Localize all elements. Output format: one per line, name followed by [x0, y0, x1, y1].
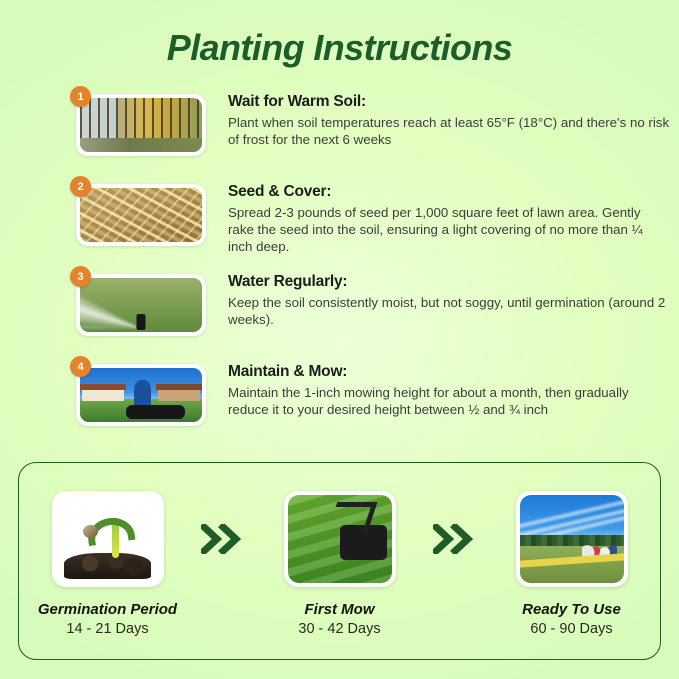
step-4-number-badge: 4: [70, 356, 91, 377]
step-4-thumbnail-wrap: 4: [70, 356, 212, 426]
straw-mulch-photo: [80, 188, 202, 242]
step-4-body: Maintain the 1-inch mowing height for ab…: [228, 384, 670, 418]
timeline-stage-1-label: Germination Period: [23, 601, 193, 618]
lawn-mower-on-grass-photo: [288, 495, 392, 583]
step-1-thumbnail-card: [76, 94, 206, 156]
timeline-stage-3-days: 60 - 90 Days: [487, 621, 657, 637]
steps-list: 1 Wait for Warm Soil: Plant when soil te…: [70, 86, 670, 446]
timeline-stage-1-card: [52, 491, 164, 587]
step-1-text: Wait for Warm Soil: Plant when soil temp…: [212, 86, 670, 148]
step-2-text: Seed & Cover: Spread 2-3 pounds of seed …: [212, 176, 670, 255]
timeline-stage-3-label: Ready To Use: [487, 601, 657, 618]
step-3-text: Water Regularly: Keep the soil consisten…: [212, 266, 670, 328]
timeline-stage-3: Ready To Use 60 - 90 Days: [487, 491, 657, 637]
step-1-body: Plant when soil temperatures reach at le…: [228, 114, 670, 148]
step-4-heading: Maintain & Mow:: [228, 363, 670, 381]
timeline-stage-2-label: First Mow: [255, 601, 425, 618]
step-2-thumbnail-card: [76, 184, 206, 246]
step-item-3: 3 Water Regularly: Keep the soil consist…: [70, 266, 670, 356]
double-chevron-right-icon-2: [425, 491, 487, 587]
step-3-body: Keep the soil consistently moist, but no…: [228, 294, 670, 328]
step-3-thumbnail-wrap: 3: [70, 266, 212, 336]
step-4-text: Maintain & Mow: Maintain the 1-inch mowi…: [212, 356, 670, 418]
step-3-number-badge: 3: [70, 266, 91, 287]
step-1-thumbnail-wrap: 1: [70, 86, 212, 156]
step-3-heading: Water Regularly:: [228, 273, 670, 291]
lawn-sprinkler-photo: [80, 278, 202, 332]
timeline-row: Germination Period 14 - 21 Days: [19, 485, 660, 637]
sports-field-photo: [520, 495, 624, 583]
step-2-thumbnail-wrap: 2: [70, 176, 212, 246]
step-4-thumbnail-card: [76, 364, 206, 426]
step-2-number-badge: 2: [70, 176, 91, 197]
step-2-heading: Seed & Cover:: [228, 183, 670, 201]
step-item-1: 1 Wait for Warm Soil: Plant when soil te…: [70, 86, 670, 176]
page-title: Planting Instructions: [0, 27, 679, 69]
timeline-stage-2-card: [284, 491, 396, 587]
step-1-number-badge: 1: [70, 86, 91, 107]
timeline-stage-1: Germination Period 14 - 21 Days: [23, 491, 193, 637]
step-item-4: 4 Maintain & Mow: Maintain th: [70, 356, 670, 446]
seedling-sprout-photo: [56, 495, 160, 583]
step-3-thumbnail-card: [76, 274, 206, 336]
infographic-page: Planting Instructions 1 Wait for Warm So…: [0, 0, 679, 679]
timeline-stage-2: First Mow 30 - 42 Days: [255, 491, 425, 637]
timeline-stage-3-card: [516, 491, 628, 587]
double-chevron-right-icon: [193, 491, 255, 587]
step-item-2: 2 Seed & Cover: Spread 2-3 pounds of see…: [70, 176, 670, 266]
timeline-stage-1-days: 14 - 21 Days: [23, 621, 193, 637]
timeline-stage-2-days: 30 - 42 Days: [255, 621, 425, 637]
timeline-panel: Germination Period 14 - 21 Days: [18, 462, 661, 660]
step-1-heading: Wait for Warm Soil:: [228, 93, 670, 111]
autumn-trees-photo: [80, 98, 202, 152]
step-2-body: Spread 2-3 pounds of seed per 1,000 squa…: [228, 204, 670, 255]
person-mowing-photo: [80, 368, 202, 422]
